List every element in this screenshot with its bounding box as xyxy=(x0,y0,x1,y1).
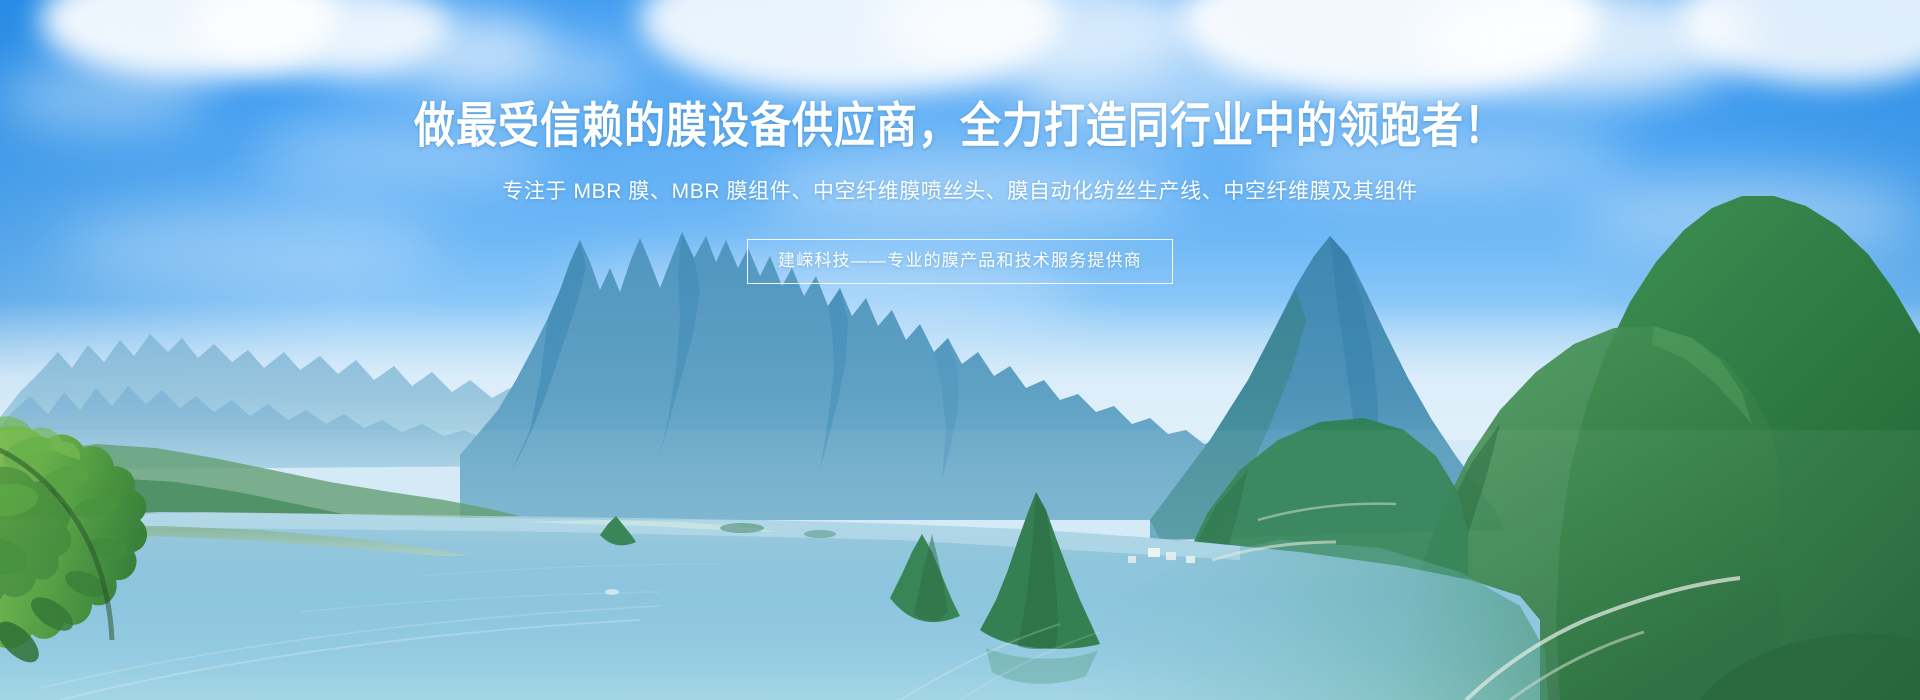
banner-headline: 做最受信赖的膜设备供应商，全力打造同行业中的领跑者！ xyxy=(414,96,1506,155)
banner-tagline-box: 建嵘科技——专业的膜产品和技术服务提供商 xyxy=(747,239,1173,284)
banner-subtitle: 专注于 MBR 膜、MBR 膜组件、中空纤维膜喷丝头、膜自动化纺丝生产线、中空纤… xyxy=(502,176,1417,208)
banner-copy: 做最受信赖的膜设备供应商，全力打造同行业中的领跑者！ 专注于 MBR 膜、MBR… xyxy=(0,0,1920,284)
hero-banner: 做最受信赖的膜设备供应商，全力打造同行业中的领跑者！ 专注于 MBR 膜、MBR… xyxy=(0,0,1920,700)
